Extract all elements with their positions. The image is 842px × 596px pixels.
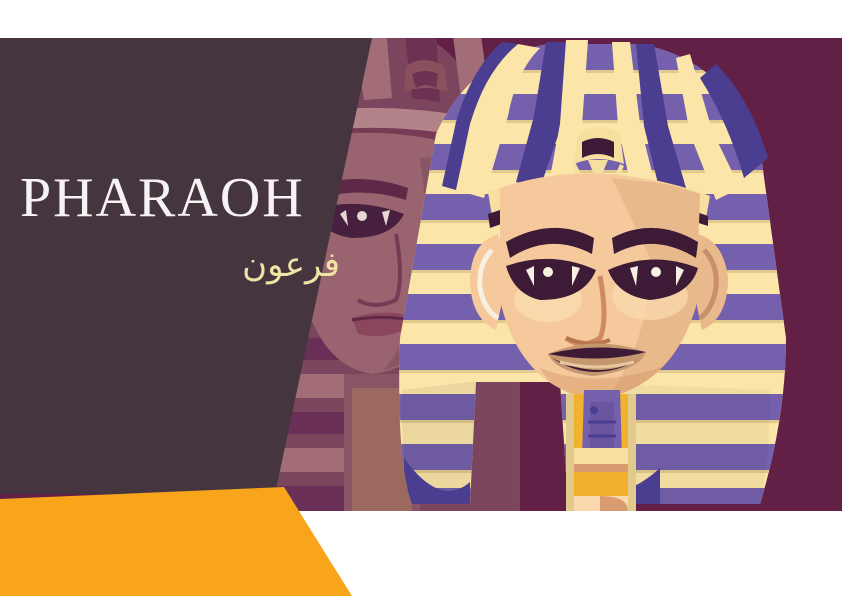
false-beard bbox=[566, 390, 636, 511]
page-title: PHARAOH bbox=[0, 170, 340, 226]
white-band-top bbox=[0, 0, 842, 38]
poster-canvas: PHARAOH فرعون bbox=[0, 0, 842, 596]
nemes-headdress bbox=[380, 40, 800, 511]
title-block: PHARAOH فرعون bbox=[0, 170, 340, 282]
page-subtitle-arabic: فرعون bbox=[0, 226, 340, 282]
